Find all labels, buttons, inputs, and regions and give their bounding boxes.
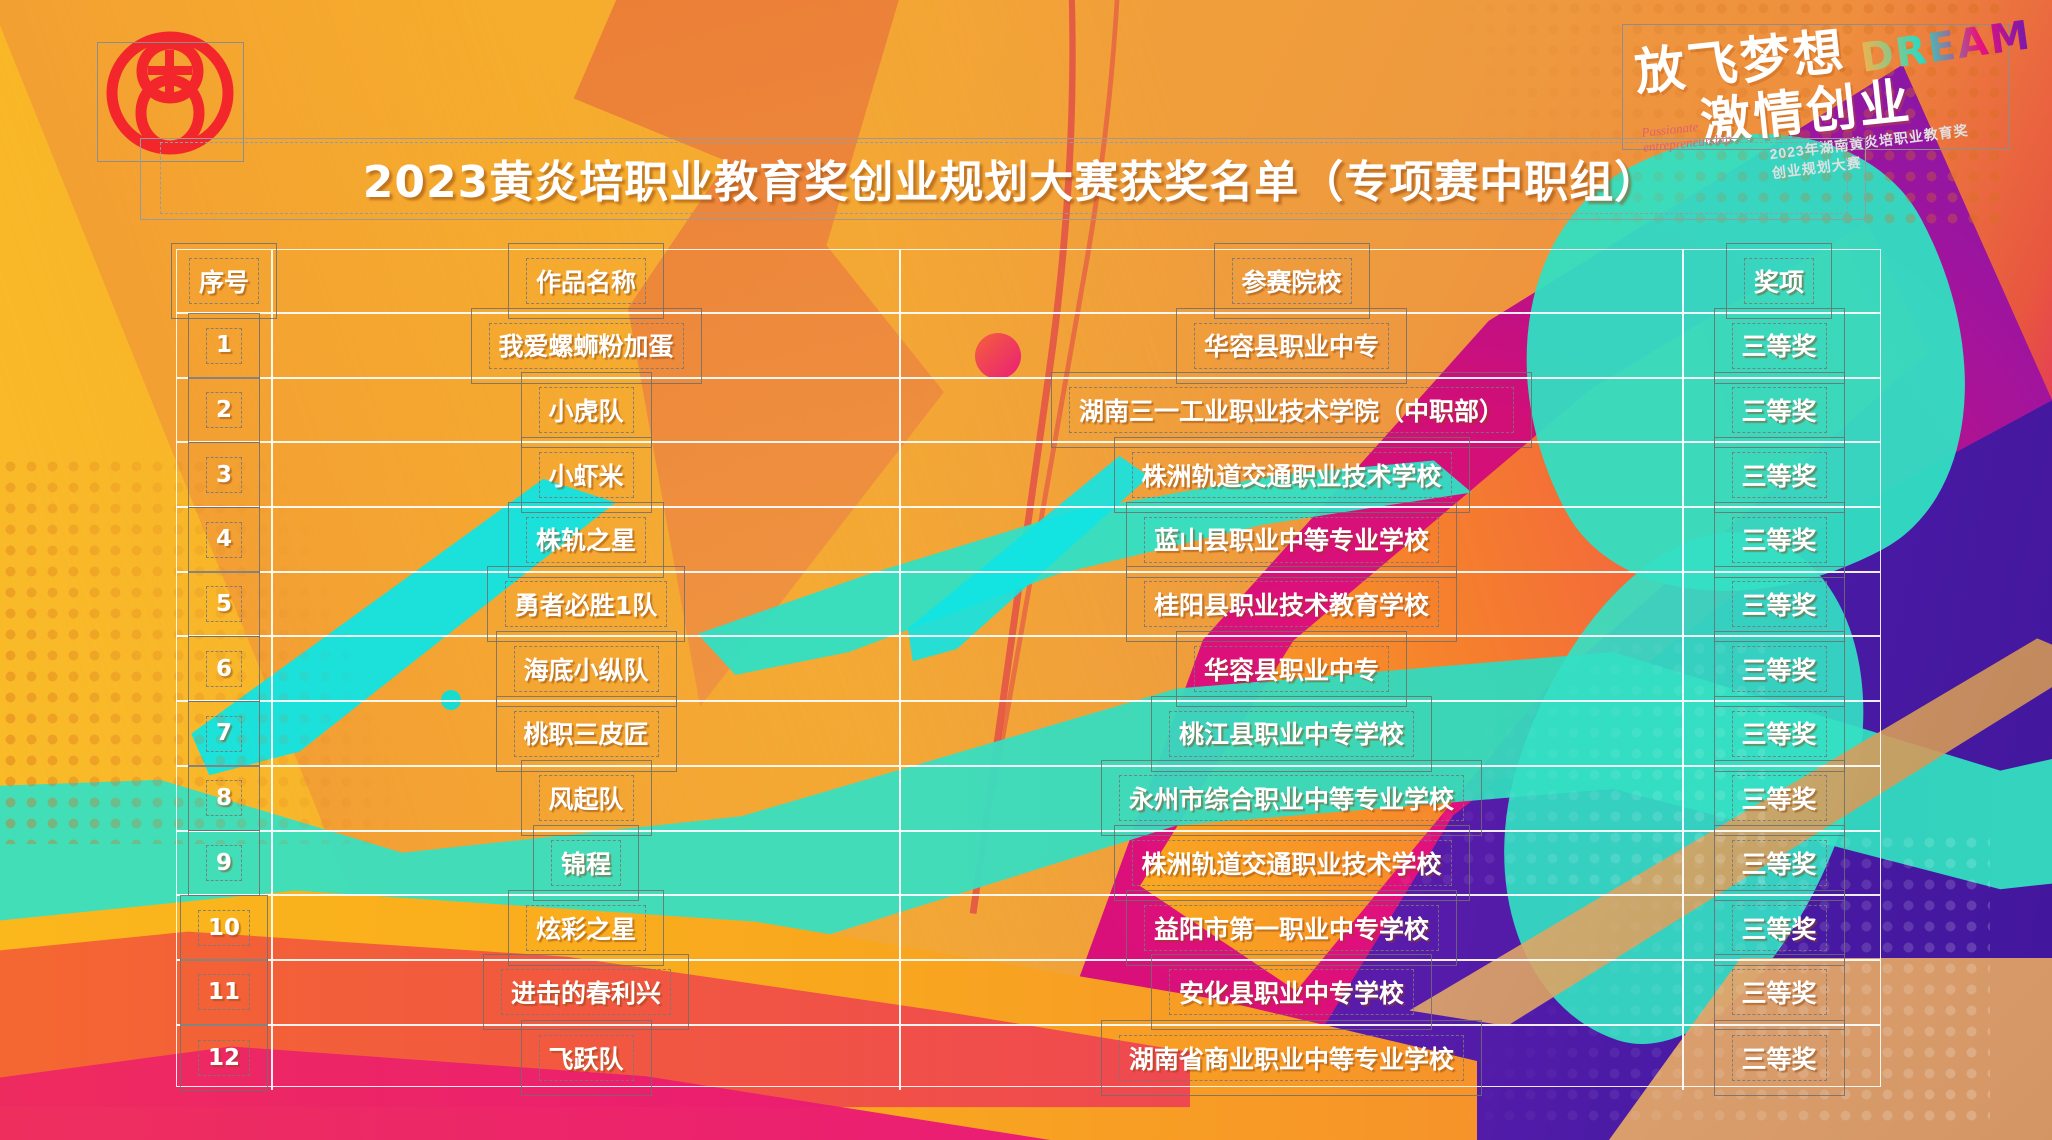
column-header-label: 奖项: [1748, 261, 1810, 301]
cell-award[interactable]: 三等奖: [1684, 508, 1874, 571]
cell-text: 益阳市第一职业中专学校: [1148, 908, 1435, 948]
cell-text: 蓝山县职业中等专业学校: [1148, 519, 1435, 559]
cell-text: 株洲轨道交通职业技术学校: [1135, 455, 1447, 495]
cell-name[interactable]: 飞跃队: [273, 1026, 901, 1091]
cell-name[interactable]: 我爱螺蛳粉加蛋: [273, 314, 901, 377]
cell-index[interactable]: 2: [177, 379, 273, 442]
column-header-index[interactable]: 序号: [177, 250, 273, 312]
table-row[interactable]: 1我爱螺蛳粉加蛋华容县职业中专三等奖: [177, 314, 1880, 379]
cell-text: 华容县职业中专: [1198, 649, 1385, 689]
slide-canvas: 放飞梦想 DREAM 激情创业 Passionate entrepreneurs…: [0, 0, 2052, 1140]
column-header-label: 作品名称: [530, 261, 642, 301]
cell-text: 三等奖: [1735, 455, 1822, 495]
cell-text: 三等奖: [1735, 390, 1822, 430]
table-row[interactable]: 9锦程株洲轨道交通职业技术学校三等奖: [177, 832, 1880, 897]
table-row[interactable]: 6海底小纵队华容县职业中专三等奖: [177, 637, 1880, 702]
cell-index[interactable]: 8: [177, 767, 273, 830]
column-header-label: 序号: [193, 261, 255, 301]
cell-text: 三等奖: [1735, 908, 1822, 948]
title-text: 2023黄炎培职业教育奖创业规划大赛获奖名单（专项赛中职组）: [176, 146, 1846, 210]
organization-logo: [100, 30, 240, 155]
cell-school[interactable]: 湖南省商业职业中等专业学校: [901, 1026, 1684, 1091]
cell-text: 湖南省商业职业中等专业学校: [1123, 1038, 1460, 1078]
cell-award[interactable]: 三等奖: [1684, 1026, 1874, 1091]
cell-school[interactable]: 株洲轨道交通职业技术学校: [901, 443, 1684, 506]
cell-text: 安化县职业中专学校: [1173, 972, 1410, 1012]
cell-text: 小虎队: [542, 390, 629, 430]
cell-index[interactable]: 5: [177, 573, 273, 636]
cell-name[interactable]: 小虾米: [273, 443, 901, 506]
cell-text: 锦程: [555, 843, 617, 883]
cell-school[interactable]: 蓝山县职业中等专业学校: [901, 508, 1684, 571]
cell-award[interactable]: 三等奖: [1684, 832, 1874, 895]
cell-text: 勇者必胜1队: [509, 584, 663, 624]
cell-index[interactable]: 3: [177, 443, 273, 506]
cell-award[interactable]: 三等奖: [1684, 443, 1874, 506]
cell-index[interactable]: 1: [177, 314, 273, 377]
cell-text: 桂阳县职业技术教育学校: [1148, 584, 1435, 624]
cell-name[interactable]: 炫彩之星: [273, 896, 901, 959]
cell-text: 三等奖: [1735, 325, 1822, 365]
cell-text: 12: [202, 1043, 246, 1073]
table-row[interactable]: 2小虎队湖南三一工业职业技术学院（中职部）三等奖: [177, 379, 1880, 444]
table-row[interactable]: 11进击的春利兴安化县职业中专学校三等奖: [177, 961, 1880, 1026]
cell-name[interactable]: 株轨之星: [273, 508, 901, 571]
cell-award[interactable]: 三等奖: [1684, 702, 1874, 765]
cell-school[interactable]: 桃江县职业中专学校: [901, 702, 1684, 765]
column-header-award[interactable]: 奖项: [1684, 250, 1874, 312]
cell-text: 永州市综合职业中等专业学校: [1123, 778, 1460, 818]
cell-name[interactable]: 锦程: [273, 832, 901, 895]
cell-name[interactable]: 进击的春利兴: [273, 961, 901, 1024]
cell-text: 华容县职业中专: [1198, 325, 1385, 365]
cell-text: 炫彩之星: [530, 908, 642, 948]
cell-text: 湖南三一工业职业技术学院（中职部）: [1073, 390, 1510, 430]
cell-text: 三等奖: [1735, 713, 1822, 753]
cell-text: 三等奖: [1735, 519, 1822, 559]
cell-text: 进击的春利兴: [505, 972, 667, 1012]
table-row[interactable]: 12飞跃队湖南省商业职业中等专业学校三等奖: [177, 1026, 1880, 1091]
cell-text: 2: [210, 395, 238, 425]
cell-text: 9: [210, 848, 238, 878]
table-row[interactable]: 3小虾米株洲轨道交通职业技术学校三等奖: [177, 443, 1880, 508]
cell-text: 海底小纵队: [517, 649, 654, 689]
cell-award[interactable]: 三等奖: [1684, 767, 1874, 830]
cell-index[interactable]: 12: [177, 1026, 273, 1091]
cell-text: 4: [210, 524, 238, 554]
column-header-label: 参赛院校: [1235, 261, 1347, 301]
cell-name[interactable]: 小虎队: [273, 379, 901, 442]
cell-text: 风起队: [542, 778, 629, 818]
table-row[interactable]: 5勇者必胜1队桂阳县职业技术教育学校三等奖: [177, 573, 1880, 638]
cell-text: 11: [202, 977, 246, 1007]
cell-name[interactable]: 海底小纵队: [273, 637, 901, 700]
cell-text: 3: [210, 460, 238, 490]
table-row[interactable]: 8风起队永州市综合职业中等专业学校三等奖: [177, 767, 1880, 832]
cell-index[interactable]: 9: [177, 832, 273, 895]
cell-text: 三等奖: [1735, 972, 1822, 1012]
cell-school[interactable]: 益阳市第一职业中专学校: [901, 896, 1684, 959]
table-row[interactable]: 4株轨之星蓝山县职业中等专业学校三等奖: [177, 508, 1880, 573]
cell-text: 株轨之星: [530, 519, 642, 559]
cell-text: 5: [210, 589, 238, 619]
cell-text: 7: [210, 718, 238, 748]
cell-text: 桃江县职业中专学校: [1173, 713, 1410, 753]
results-table[interactable]: 序号作品名称参赛院校奖项1我爱螺蛳粉加蛋华容县职业中专三等奖2小虎队湖南三一工业…: [176, 249, 1881, 1087]
cell-name[interactable]: 桃职三皮匠: [273, 702, 901, 765]
cell-text: 8: [210, 783, 238, 813]
cell-index[interactable]: 6: [177, 637, 273, 700]
cell-award[interactable]: 三等奖: [1684, 896, 1874, 959]
cell-school[interactable]: 华容县职业中专: [901, 637, 1684, 700]
page-title[interactable]: 2023黄炎培职业教育奖创业规划大赛获奖名单（专项赛中职组）: [176, 146, 1846, 208]
cell-text: 三等奖: [1735, 584, 1822, 624]
column-header-school[interactable]: 参赛院校: [901, 250, 1684, 312]
cell-text: 1: [210, 330, 238, 360]
cell-text: 小虾米: [542, 455, 629, 495]
cell-text: 10: [202, 913, 246, 943]
cell-index[interactable]: 10: [177, 896, 273, 959]
table-row[interactable]: 10炫彩之星益阳市第一职业中专学校三等奖: [177, 896, 1880, 961]
cell-award[interactable]: 三等奖: [1684, 379, 1874, 442]
cell-name[interactable]: 风起队: [273, 767, 901, 830]
table-row[interactable]: 7桃职三皮匠桃江县职业中专学校三等奖: [177, 702, 1880, 767]
cell-school[interactable]: 桂阳县职业技术教育学校: [901, 573, 1684, 636]
cell-text: 飞跃队: [542, 1038, 629, 1078]
cell-text: 我爱螺蛳粉加蛋: [492, 325, 679, 365]
cell-award[interactable]: 三等奖: [1684, 314, 1874, 377]
column-header-name[interactable]: 作品名称: [273, 250, 901, 312]
cell-text: 株洲轨道交通职业技术学校: [1135, 843, 1447, 883]
cell-text: 三等奖: [1735, 1038, 1822, 1078]
cell-award[interactable]: 三等奖: [1684, 637, 1874, 700]
table-header-row: 序号作品名称参赛院校奖项: [177, 250, 1880, 314]
cell-text: 三等奖: [1735, 778, 1822, 818]
cell-school[interactable]: 华容县职业中专: [901, 314, 1684, 377]
cell-text: 三等奖: [1735, 649, 1822, 689]
cell-school[interactable]: 湖南三一工业职业技术学院（中职部）: [901, 379, 1684, 442]
cell-text: 6: [210, 654, 238, 684]
cell-index[interactable]: 7: [177, 702, 273, 765]
cell-text: 桃职三皮匠: [517, 713, 654, 753]
cell-award[interactable]: 三等奖: [1684, 573, 1874, 636]
cell-index[interactable]: 4: [177, 508, 273, 571]
cell-school[interactable]: 永州市综合职业中等专业学校: [901, 767, 1684, 830]
cell-school[interactable]: 株洲轨道交通职业技术学校: [901, 832, 1684, 895]
cell-award[interactable]: 三等奖: [1684, 961, 1874, 1024]
cell-index[interactable]: 11: [177, 961, 273, 1024]
cell-text: 三等奖: [1735, 843, 1822, 883]
cell-school[interactable]: 安化县职业中专学校: [901, 961, 1684, 1024]
cell-name[interactable]: 勇者必胜1队: [273, 573, 901, 636]
